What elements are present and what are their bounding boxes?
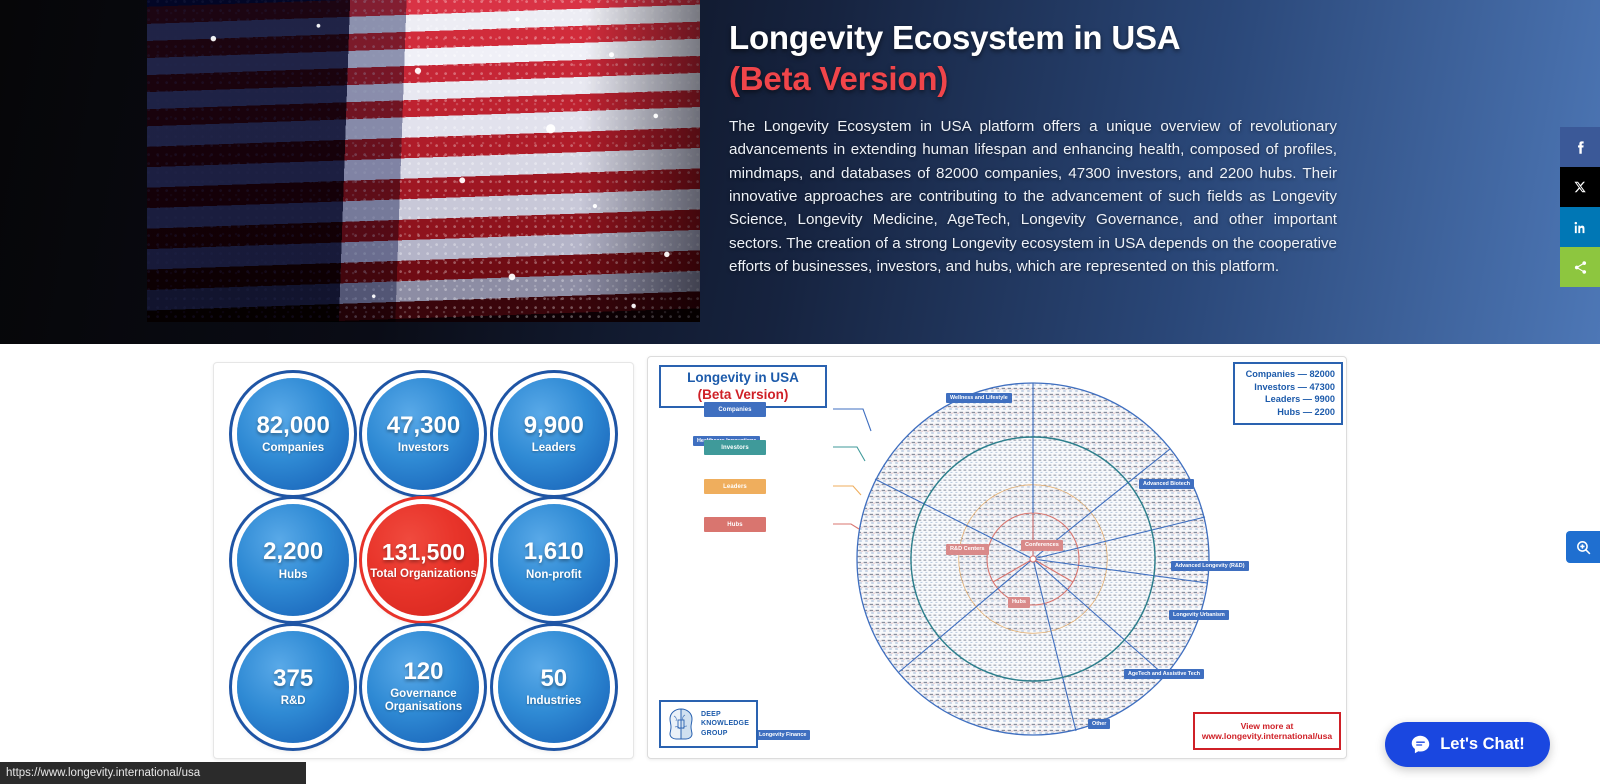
hero-copy: Longevity Ecosystem in USA (Beta Version… xyxy=(729,18,1337,278)
legend-chip-companies[interactable]: Companies xyxy=(704,402,766,417)
page-title-main: Longevity Ecosystem in USA xyxy=(729,19,1180,56)
stat-companies[interactable]: 82,000 Companies xyxy=(237,378,349,490)
page-title-beta: (Beta Version) xyxy=(729,59,1337,100)
mindmap-svg xyxy=(833,369,1233,749)
mindmap-stat-leaders: Leaders — 9900 xyxy=(1241,393,1335,406)
logo-line-3: GROUP xyxy=(701,729,749,738)
stat-leaders[interactable]: 9,900 Leaders xyxy=(498,378,610,490)
stat-label: Governance Organisations xyxy=(367,688,479,714)
x-share-button[interactable] xyxy=(1560,167,1600,207)
center-label-conferences[interactable]: Conferences xyxy=(1021,540,1063,551)
stat-industries[interactable]: 50 Industries xyxy=(498,631,610,743)
mindmap-stat-hubs: Hubs — 2200 xyxy=(1241,406,1335,419)
page-title: Longevity Ecosystem in USA (Beta Version… xyxy=(729,18,1337,99)
view-more-label: View more at xyxy=(1241,721,1294,731)
social-share-rail xyxy=(1560,127,1600,287)
mindmap-graphic[interactable]: Healthcare Innovations Wellness and Life… xyxy=(833,369,1233,749)
stat-investors[interactable]: 47,300 Investors xyxy=(367,378,479,490)
mindmap-card[interactable]: Longevity in USA (Beta Version) Companie… xyxy=(647,356,1347,759)
sector-label-advanced-biotech[interactable]: Advanced Biotech xyxy=(1139,479,1194,489)
more-share-button[interactable] xyxy=(1560,247,1600,287)
page-root: Longevity Ecosystem in USA (Beta Version… xyxy=(0,0,1600,784)
stat-label: R&D xyxy=(281,695,306,708)
stat-label: Leaders xyxy=(532,442,576,455)
linkedin-share-button[interactable] xyxy=(1560,207,1600,247)
sector-label-advanced-longevity-rd[interactable]: Advanced Longevity (R&D) xyxy=(1171,561,1249,571)
hero-banner: Longevity Ecosystem in USA (Beta Version… xyxy=(0,0,1600,344)
linkedin-icon xyxy=(1573,220,1588,235)
logo-line-2: KNOWLEDGE xyxy=(701,719,749,728)
sector-label-agetech-and-assistive-tech[interactable]: AgeTech and Assistive Tech xyxy=(1124,669,1204,679)
browser-status-bar: https://www.longevity.international/usa xyxy=(0,762,306,784)
logo-line-1: DEEP xyxy=(701,710,749,719)
stat-label: Non-profit xyxy=(526,569,582,582)
main-content: 82,000 Companies 47,300 Investors 9,900 … xyxy=(0,344,1600,784)
stat-value: 375 xyxy=(273,666,313,691)
facebook-icon xyxy=(1573,140,1588,155)
legend-chip-investors[interactable]: Investors xyxy=(704,440,766,455)
chat-bubble-icon xyxy=(1410,734,1431,755)
stat-label: Total Organizations xyxy=(370,568,477,581)
stat-value: 50 xyxy=(540,666,567,691)
sector-label-longevity-finance[interactable]: Longevity Finance xyxy=(755,730,810,740)
usa-flag-image xyxy=(147,0,700,322)
stat-rd[interactable]: 375 R&D xyxy=(237,631,349,743)
share-icon xyxy=(1573,260,1588,275)
brain-icon xyxy=(666,707,696,741)
mindmap-stats-box: Companies — 82000 Investors — 47300 Lead… xyxy=(1233,362,1343,425)
mindmap-title-line2: (Beta Version) xyxy=(698,387,789,403)
stat-label: Hubs xyxy=(279,569,308,582)
logo-text: DEEP KNOWLEDGE GROUP xyxy=(701,710,749,738)
facebook-share-button[interactable] xyxy=(1560,127,1600,167)
stats-row-1: 82,000 Companies 47,300 Investors 9,900 … xyxy=(228,378,619,490)
hero-description: The Longevity Ecosystem in USA platform … xyxy=(729,115,1337,278)
sector-label-other[interactable]: Other xyxy=(1088,719,1110,729)
zoom-in-button[interactable] xyxy=(1566,531,1600,563)
legend-chip-leaders[interactable]: Leaders xyxy=(704,479,766,494)
stat-non-profit[interactable]: 1,610 Non-profit xyxy=(498,504,610,616)
stats-row-3: 375 R&D 120 Governance Organisations 50 … xyxy=(228,631,619,743)
stats-row-2: 2,200 Hubs 131,500 Total Organizations 1… xyxy=(228,504,619,616)
center-label-rd-centers[interactable]: R&D Centers xyxy=(946,544,989,555)
stat-governance-organisations[interactable]: 120 Governance Organisations xyxy=(367,631,479,743)
legend-chip-hubs[interactable]: Hubs xyxy=(704,517,766,532)
mindmap-stat-investors: Investors — 47300 xyxy=(1241,381,1335,394)
stat-total-organizations[interactable]: 131,500 Total Organizations xyxy=(367,504,479,616)
stat-value: 47,300 xyxy=(387,413,460,438)
stat-label: Investors xyxy=(398,442,449,455)
deep-knowledge-group-logo[interactable]: DEEP KNOWLEDGE GROUP xyxy=(659,700,758,748)
statistics-card: 82,000 Companies 47,300 Investors 9,900 … xyxy=(213,362,634,759)
sector-label-wellness-and-lifestyle[interactable]: Wellness and Lifestyle xyxy=(946,393,1012,403)
stat-label: Companies xyxy=(262,442,324,455)
mindmap-stat-companies: Companies — 82000 xyxy=(1241,368,1335,381)
sector-label-longevity-urbanism[interactable]: Longevity Urbanism xyxy=(1169,610,1229,620)
x-twitter-icon xyxy=(1573,180,1587,194)
stat-value: 120 xyxy=(403,659,443,684)
center-label-hubs[interactable]: Hubs xyxy=(1008,597,1030,608)
stat-value: 1,610 xyxy=(524,539,584,564)
chat-widget-button[interactable]: Let's Chat! xyxy=(1385,722,1550,767)
stat-value: 82,000 xyxy=(256,413,329,438)
chat-widget-label: Let's Chat! xyxy=(1440,735,1525,754)
stat-label: Industries xyxy=(526,695,581,708)
stat-hubs[interactable]: 2,200 Hubs xyxy=(237,504,349,616)
view-more-link-box[interactable]: View more at www.longevity.international… xyxy=(1193,712,1341,750)
stat-value: 131,500 xyxy=(382,540,465,564)
stat-value: 2,200 xyxy=(263,539,323,564)
view-more-url: www.longevity.international/usa xyxy=(1202,731,1332,741)
mindmap-title-line1: Longevity in USA xyxy=(687,370,799,386)
stat-value: 9,900 xyxy=(524,413,584,438)
zoom-in-icon xyxy=(1575,539,1592,556)
